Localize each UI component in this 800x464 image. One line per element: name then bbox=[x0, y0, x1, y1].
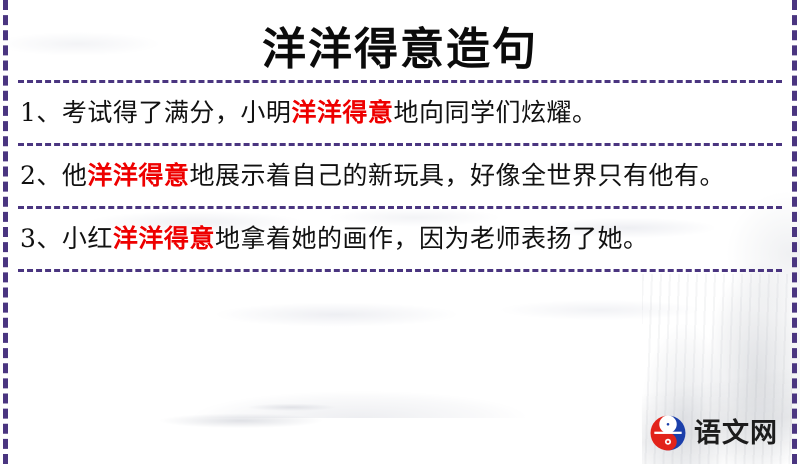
left-dashed-border bbox=[3, 0, 8, 464]
sentence-item-3: 3、小红洋洋得意地拿着她的画作，因为老师表扬了她。 bbox=[14, 209, 786, 269]
right-dashed-border bbox=[792, 0, 797, 464]
yinyang-circle-icon bbox=[649, 414, 687, 452]
sentence-text-after-1: 地向同学们炫耀。 bbox=[393, 98, 597, 127]
sentence-index-1: 1、 bbox=[20, 98, 62, 127]
site-logo[interactable]: 语文网 bbox=[649, 414, 778, 452]
sentence-text-before-1: 考试得了满分，小明 bbox=[62, 98, 292, 127]
idiom-highlight-1: 洋洋得意 bbox=[291, 98, 393, 127]
idiom-highlight-3: 洋洋得意 bbox=[113, 224, 215, 253]
page-title: 洋洋得意造句 bbox=[14, 0, 786, 78]
content-area: 洋洋得意造句 1、考试得了满分，小明洋洋得意地向同学们炫耀。 2、他洋洋得意地展… bbox=[0, 0, 800, 464]
sentence-text-after-3: 地拿着她的画作，因为老师表扬了她。 bbox=[215, 224, 649, 253]
sentence-text-before-3: 小红 bbox=[62, 224, 113, 253]
divider-bottom bbox=[18, 269, 782, 272]
slide-page: 洋洋得意造句 1、考试得了满分，小明洋洋得意地向同学们炫耀。 2、他洋洋得意地展… bbox=[0, 0, 800, 464]
sentence-item-1: 1、考试得了满分，小明洋洋得意地向同学们炫耀。 bbox=[14, 83, 786, 143]
sentence-text-after-2: 地展示着自己的新玩具，好像全世界只有他有。 bbox=[189, 161, 725, 190]
sentence-index-3: 3、 bbox=[20, 224, 62, 253]
idiom-highlight-2: 洋洋得意 bbox=[87, 161, 189, 190]
sentence-text-before-2: 他 bbox=[62, 161, 88, 190]
sentence-item-2: 2、他洋洋得意地展示着自己的新玩具，好像全世界只有他有。 bbox=[14, 146, 786, 206]
site-logo-text: 语文网 bbox=[694, 420, 778, 447]
sentence-index-2: 2、 bbox=[20, 161, 62, 190]
